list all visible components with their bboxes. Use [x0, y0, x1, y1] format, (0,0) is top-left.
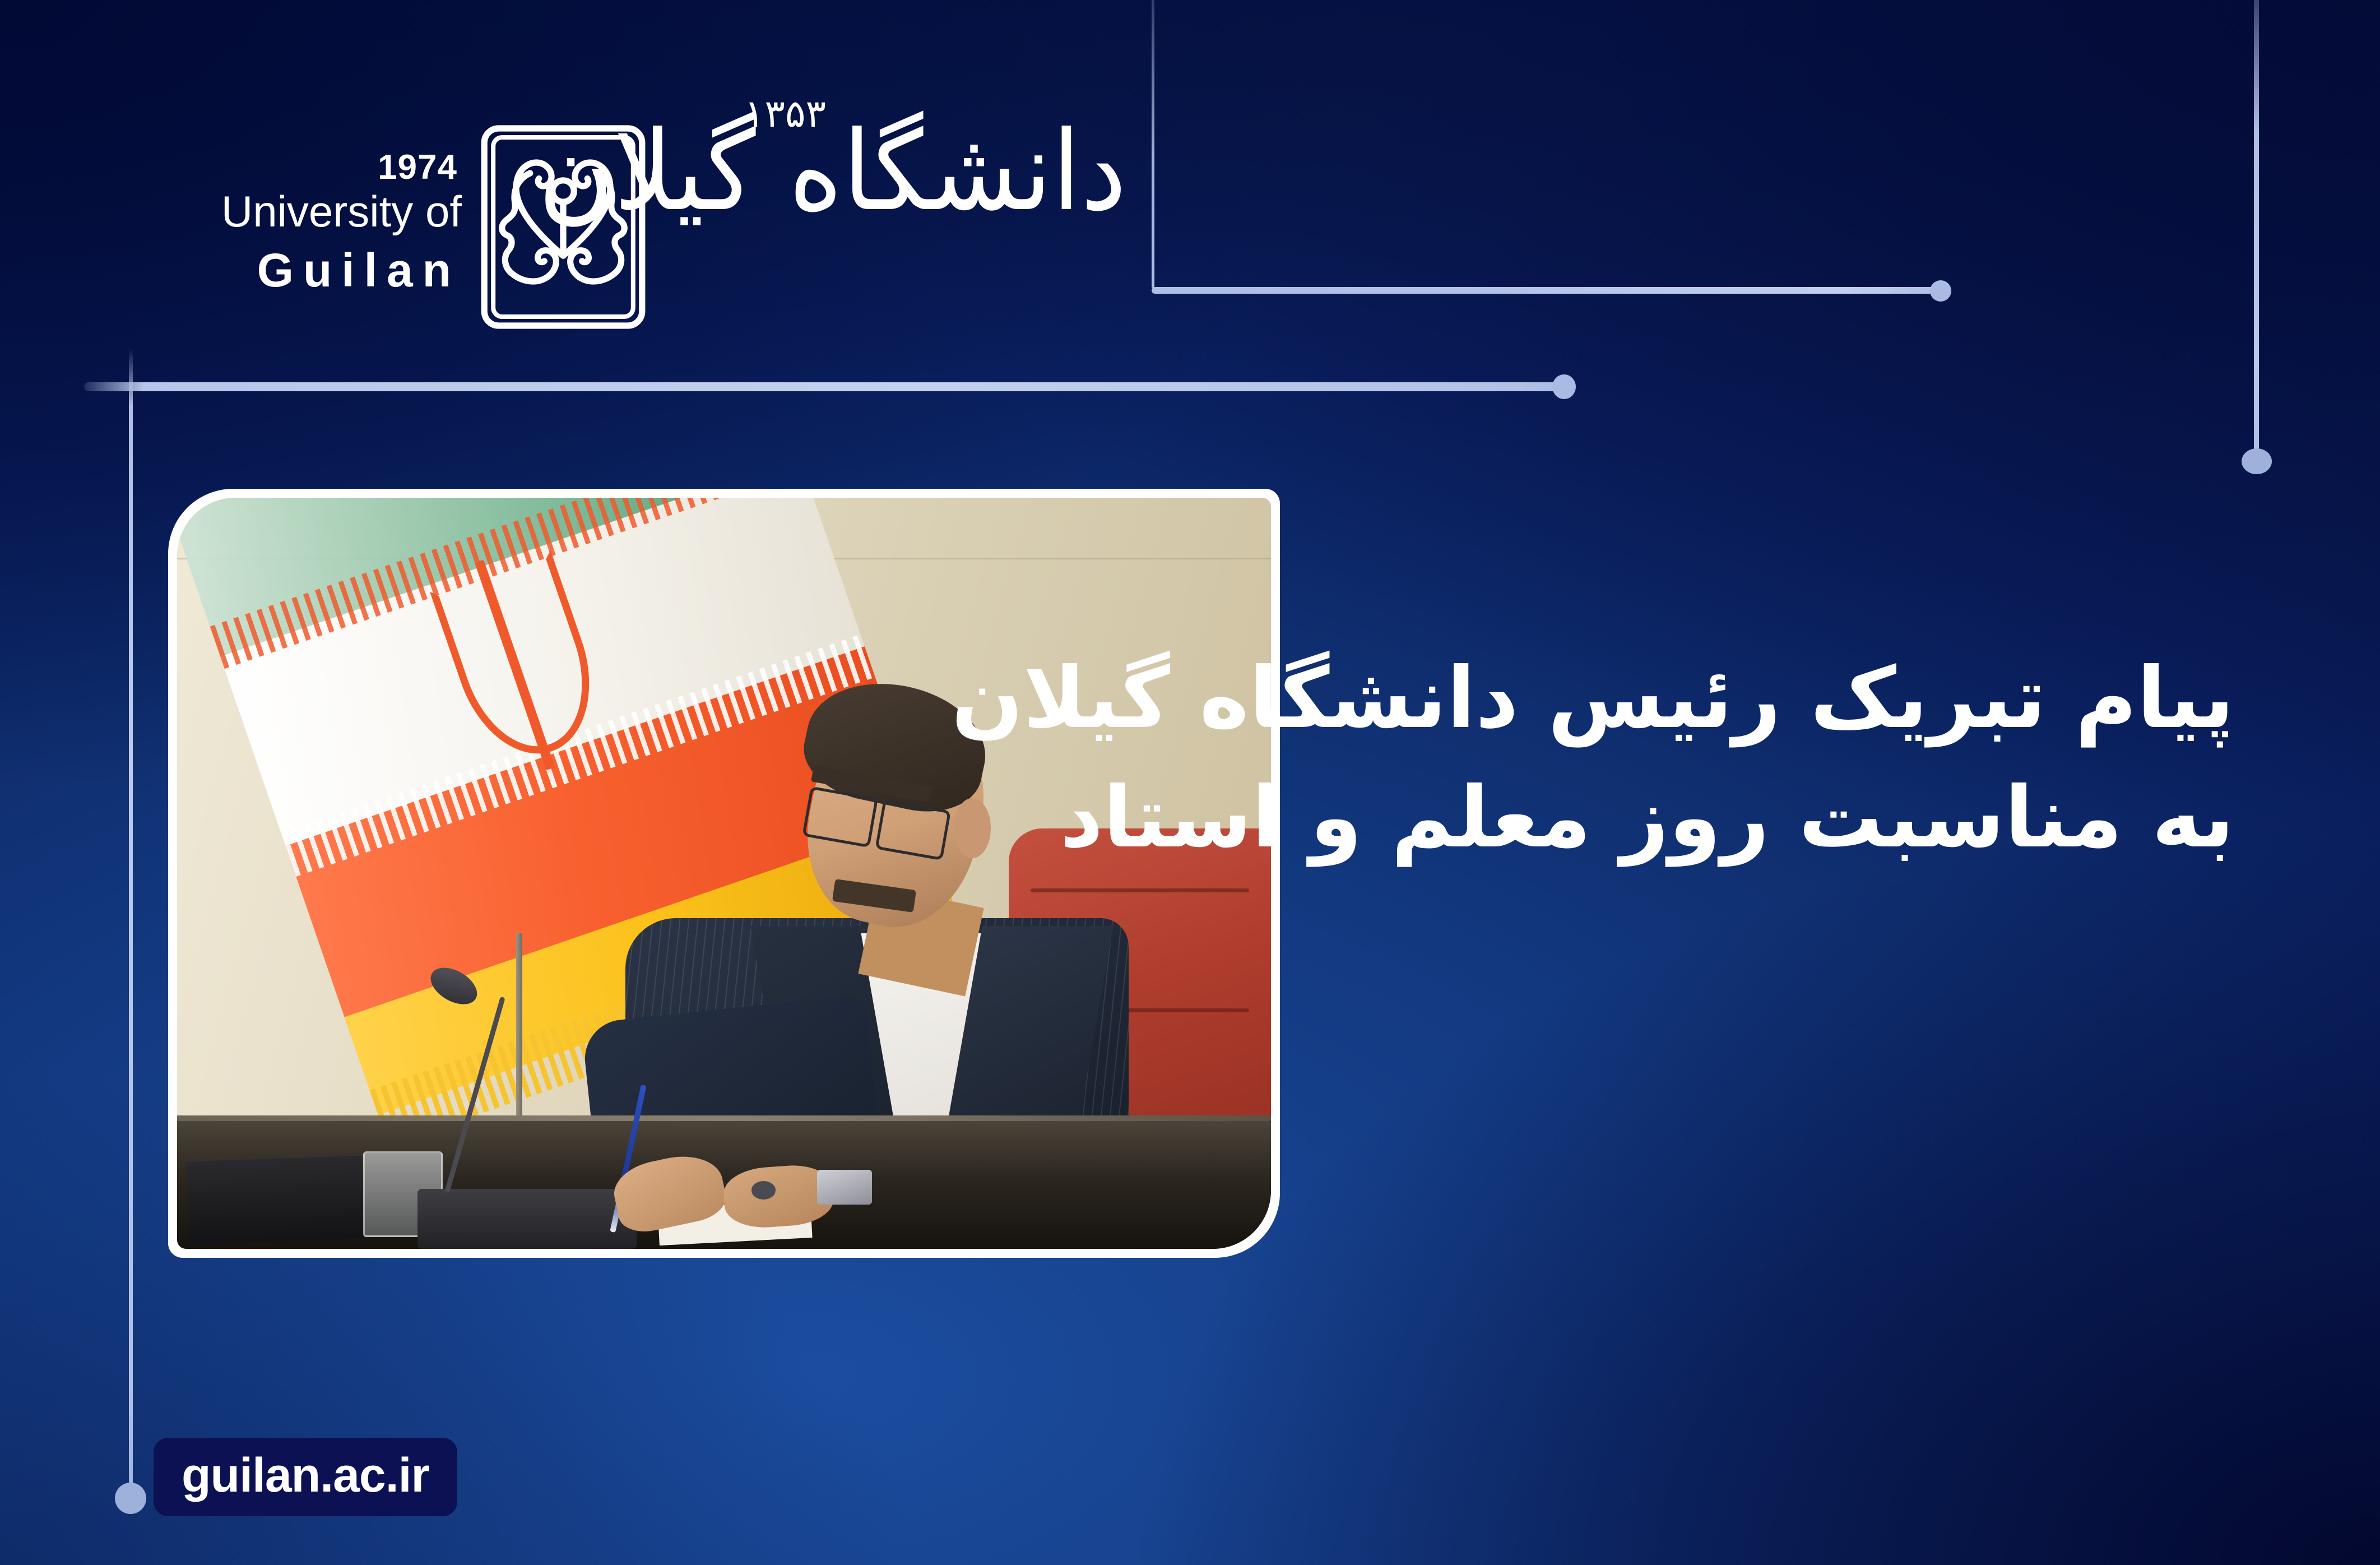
headline-line-1: پیام تبریک رئیس دانشگاه گیلان — [1170, 639, 2234, 758]
logo-english-block: 1974 University of Guilan — [168, 107, 465, 348]
logo-name-fa: دانشگاه گیلان — [538, 117, 1126, 226]
headline-line-2: به مناسبت روز معلم و استاد — [1170, 758, 2234, 878]
notebook-on-desk — [187, 1156, 364, 1244]
wristwatch — [817, 1170, 872, 1205]
poster-canvas: 1974 University of Guilan ۱۳۵۳ دانشگاه گ… — [0, 0, 2380, 1565]
logo-persian-block: ۱۳۵۳ دانشگاه گیلان — [661, 107, 1126, 348]
person-ear — [954, 798, 991, 858]
logo-name-en-line2: Guilan — [257, 247, 461, 294]
headline: پیام تبریک رئیس دانشگاه گیلان به مناسبت … — [1170, 639, 2234, 878]
desk-edge — [177, 1115, 1271, 1121]
logo-year-latin: 1974 — [378, 150, 457, 185]
microphone-base — [417, 1189, 636, 1249]
logo-name-en-line1: University of — [221, 189, 462, 233]
chair-seam — [1031, 888, 1249, 892]
website-badge[interactable]: guilan.ac.ir — [154, 1438, 457, 1516]
finger-ring — [751, 1181, 776, 1199]
university-logo: 1974 University of Guilan ۱۳۵۳ دانشگاه گ… — [168, 107, 1154, 348]
